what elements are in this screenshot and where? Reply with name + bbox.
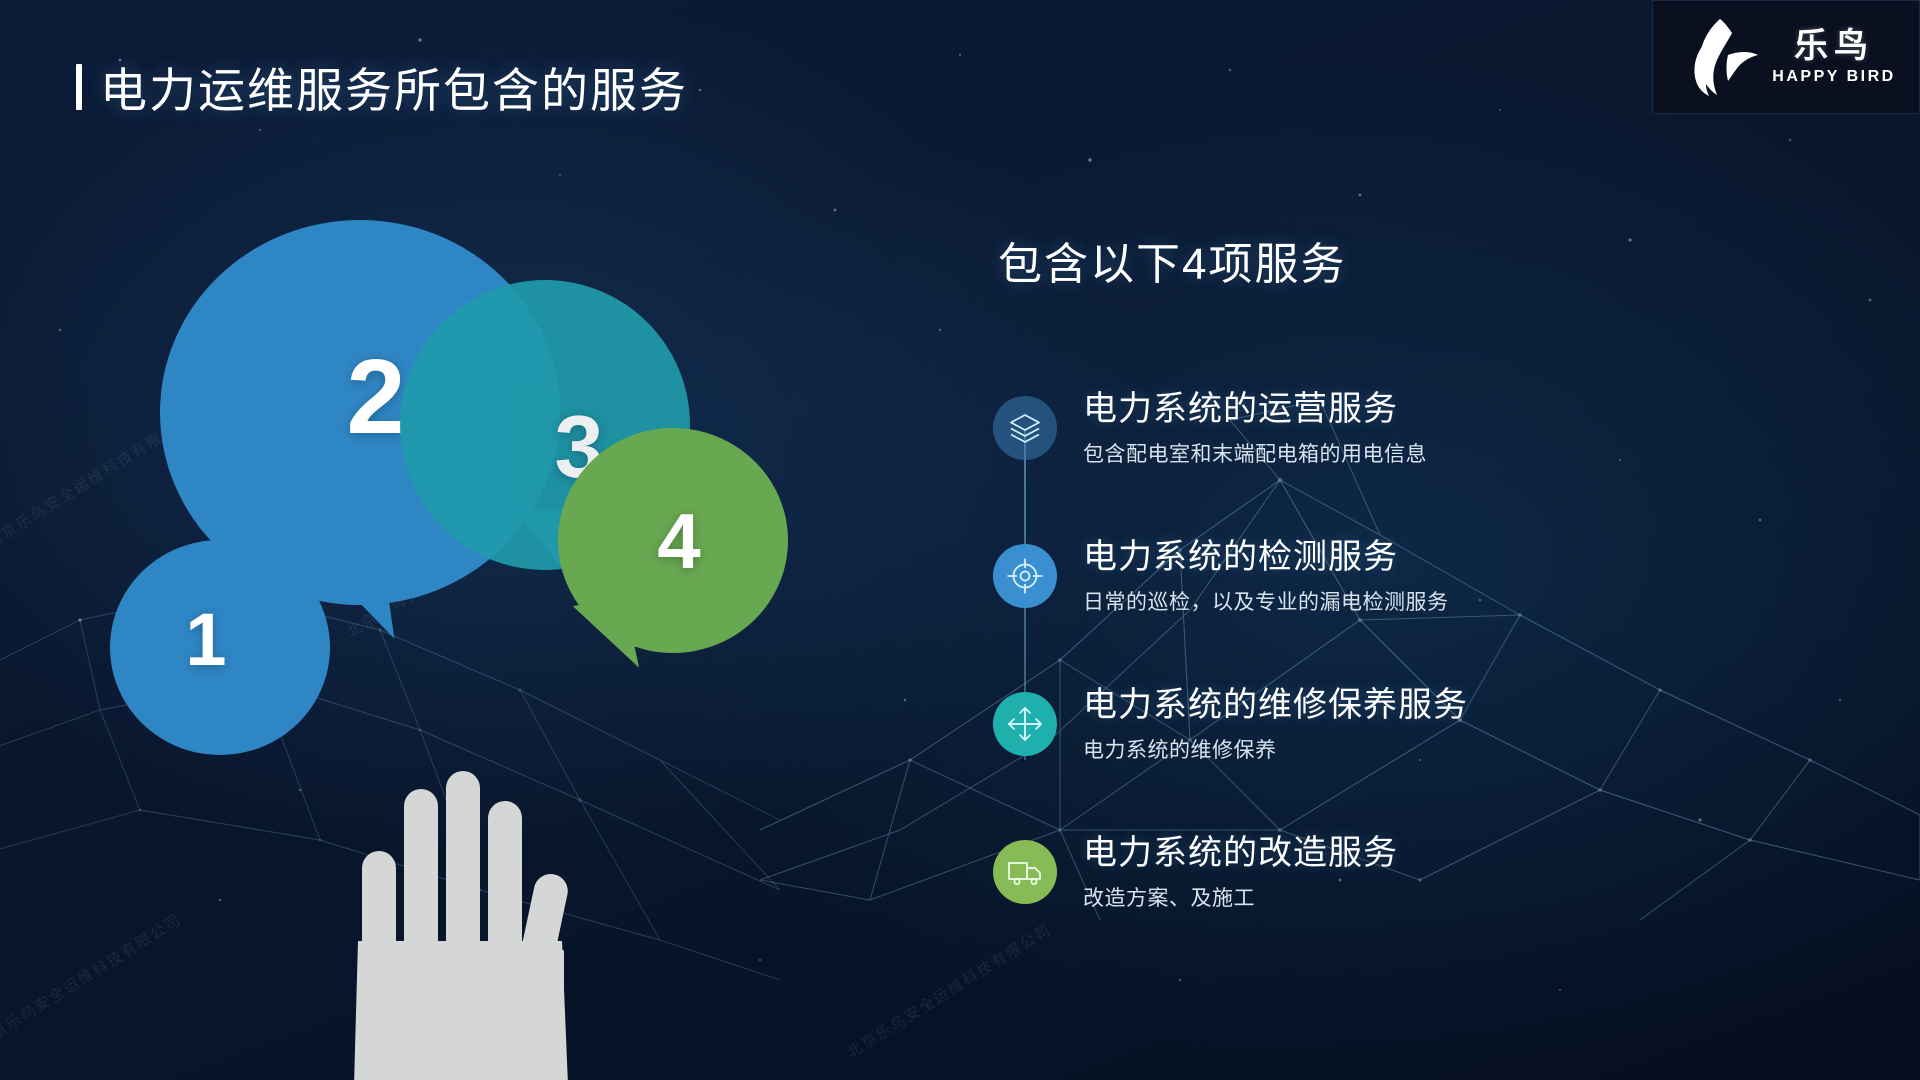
logo-english-name: HAPPY BIRD: [1772, 69, 1895, 85]
page-title: 电力运维服务所包含的服务: [100, 52, 688, 121]
crosshair-target-icon: [1005, 556, 1045, 596]
move-arrows-icon-circle: [993, 692, 1057, 756]
bubble-4: 4: [558, 428, 788, 653]
service-text-inspection: 电力系统的检测服务 日常的巡检，以及专业的漏电检测服务: [1083, 538, 1449, 616]
crosshair-target-icon-circle: [993, 544, 1057, 608]
layers-icon-circle: [993, 396, 1057, 460]
services-list: 电力系统的运营服务 包含配电室和末端配电箱的用电信息: [975, 390, 1815, 982]
service-subtitle: 包含配电室和末端配电箱的用电信息: [1083, 438, 1427, 468]
title-accent-bar: [76, 64, 82, 110]
bubble-4-number: 4: [657, 502, 700, 580]
service-title: 电力系统的运营服务: [1083, 390, 1427, 429]
logo-wordmark: 乐鸟 HAPPY BIRD: [1772, 29, 1895, 85]
service-item-maintenance[interactable]: 电力系统的维修保养服务 电力系统的维修保养: [975, 686, 1815, 804]
presentation-slide: 北京乐鸟安全运维科技有限公司 北京乐鸟安全运维科技有限公司 北京乐鸟安全运维科技…: [0, 0, 1920, 1080]
layers-icon: [1006, 409, 1044, 447]
brand-logo: 乐鸟 HAPPY BIRD: [1652, 0, 1920, 114]
service-subtitle: 日常的巡检，以及专业的漏电检测服务: [1083, 586, 1449, 616]
slide-title-block: 电力运维服务所包含的服务: [76, 52, 688, 121]
section-heading: 包含以下4项服务: [998, 228, 1346, 292]
bubble-1: 1: [110, 540, 330, 755]
service-item-operations[interactable]: 电力系统的运营服务 包含配电室和末端配电箱的用电信息: [975, 390, 1815, 508]
truck-icon: [1005, 852, 1045, 892]
service-subtitle: 电力系统的维修保养: [1083, 734, 1468, 764]
service-text-maintenance: 电力系统的维修保养服务 电力系统的维修保养: [1083, 686, 1468, 764]
bubble-1-number: 1: [185, 603, 226, 677]
logo-chinese-name: 乐鸟: [1794, 29, 1874, 63]
service-title: 电力系统的维修保养服务: [1083, 686, 1468, 725]
service-item-inspection[interactable]: 电力系统的检测服务 日常的巡检，以及专业的漏电检测服务: [975, 538, 1815, 656]
service-item-renovation[interactable]: 电力系统的改造服务 改造方案、及施工: [975, 834, 1815, 952]
move-arrows-icon: [1005, 704, 1045, 744]
service-text-operations: 电力系统的运营服务 包含配电室和末端配电箱的用电信息: [1083, 390, 1427, 468]
service-title: 电力系统的改造服务: [1083, 834, 1398, 873]
bubble-2-number: 2: [347, 344, 406, 450]
truck-icon-circle: [993, 840, 1057, 904]
hand-silhouette-icon: [300, 755, 600, 1080]
numbered-bubbles-graphic: 2 3 1 4: [0, 200, 1000, 1080]
service-title: 电力系统的检测服务: [1083, 538, 1449, 577]
service-text-renovation: 电力系统的改造服务 改造方案、及施工: [1083, 834, 1398, 912]
service-subtitle: 改造方案、及施工: [1083, 882, 1398, 912]
happy-bird-flame-logo-icon: [1676, 15, 1762, 99]
